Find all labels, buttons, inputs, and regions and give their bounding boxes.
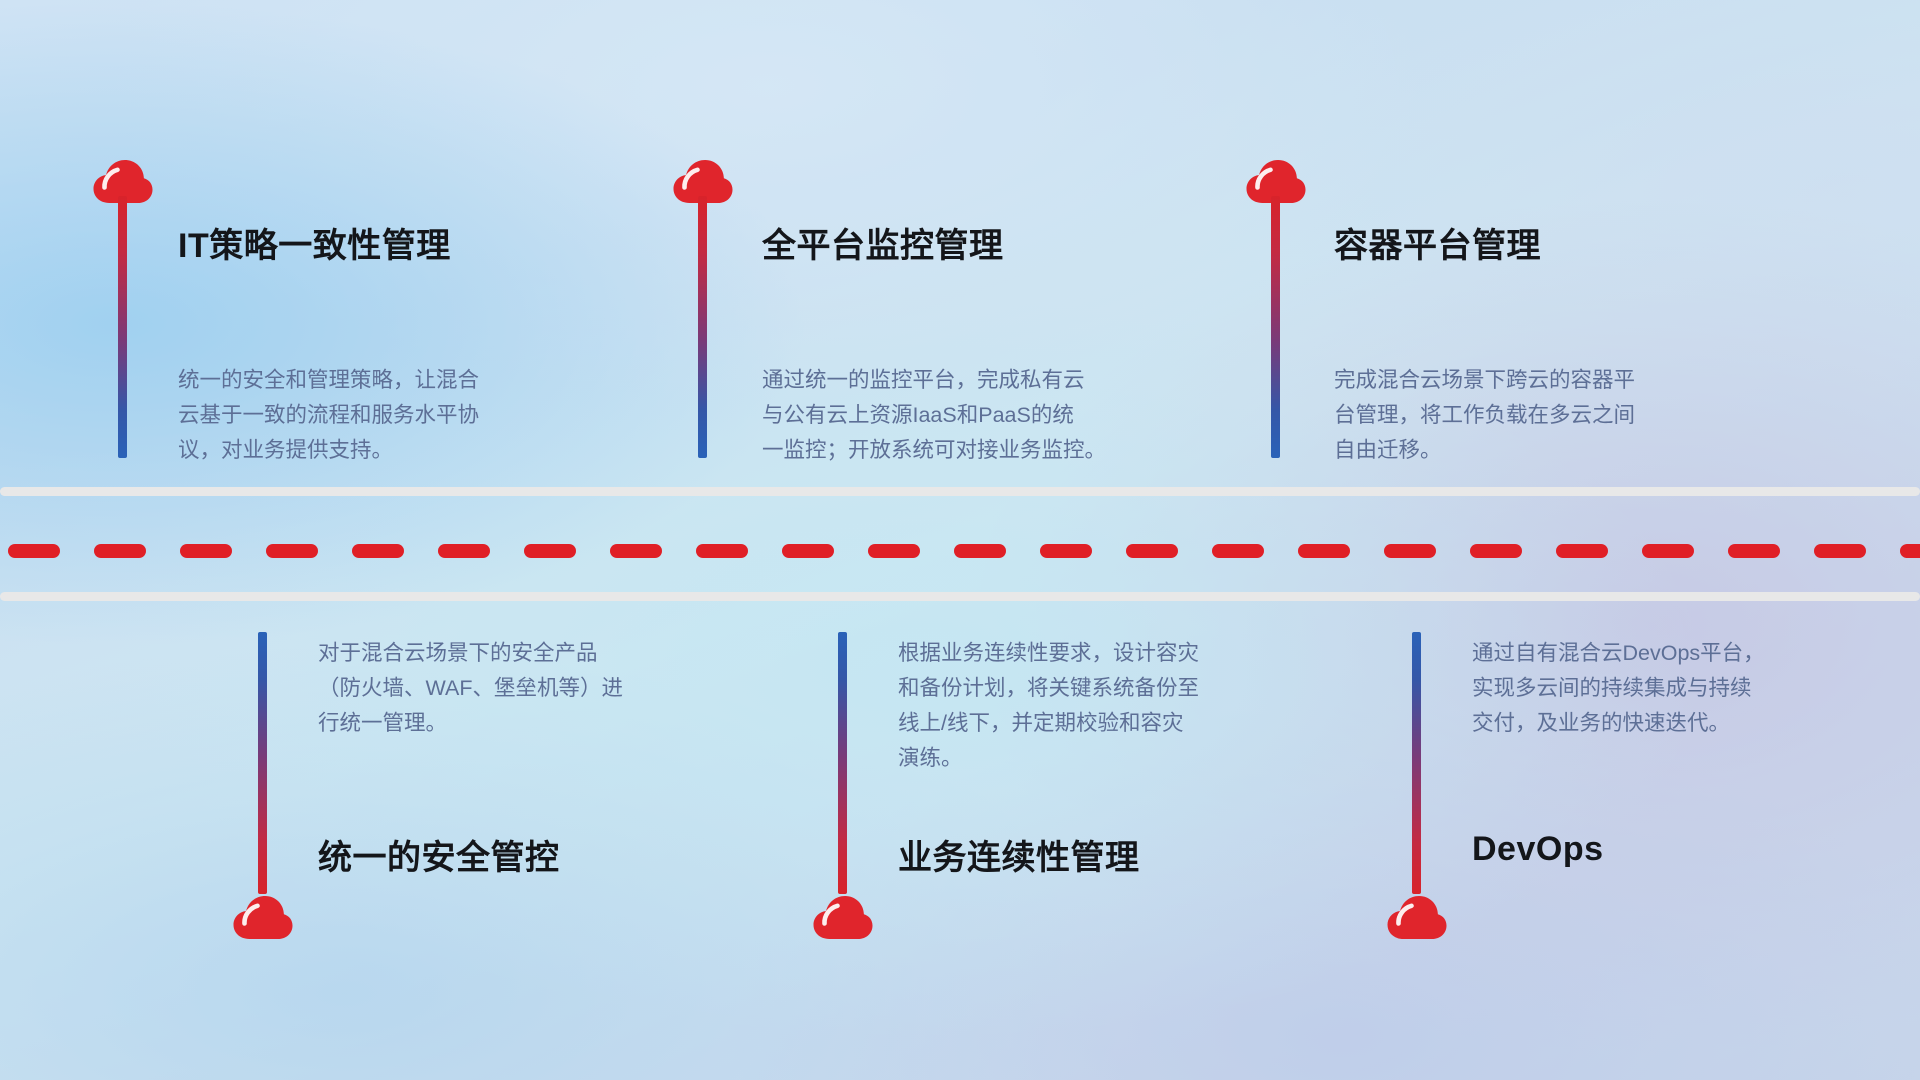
feature-title: 容器平台管理: [1334, 218, 1541, 267]
feature-title: IT策略一致性管理: [178, 218, 451, 267]
feature-title: 全平台监控管理: [762, 218, 1004, 267]
feature-body: 对于混合云场景下的安全产品 （防火墙、WAF、堡垒机等）进 行统一管理。: [318, 636, 748, 741]
divider-line-bottom: [0, 592, 1920, 601]
feature-title: DevOps: [1472, 830, 1604, 869]
feature-body: 完成混合云场景下跨云的容器平 台管理，将工作负载在多云之间 自由迁移。: [1334, 363, 1784, 468]
cloud-icon: [812, 893, 874, 941]
feature-body: 通过统一的监控平台，完成私有云 与公有云上资源IaaS和PaaS的统 一监控；开…: [762, 363, 1222, 468]
cloud-icon: [232, 893, 294, 941]
divider-line-top: [0, 487, 1920, 496]
feature-body: 统一的安全和管理策略，让混合 云基于一致的流程和服务水平协 议，对业务提供支持。: [178, 363, 608, 468]
feature-body: 根据业务连续性要求，设计容灾 和备份计划，将关键系统备份至 线上/线下，并定期校…: [898, 636, 1338, 776]
cloud-icon: [1386, 893, 1448, 941]
feature-title: 业务连续性管理: [898, 830, 1140, 879]
feature-body: 通过自有混合云DevOps平台， 实现多云间的持续集成与持续 交付，及业务的快速…: [1472, 636, 1912, 741]
infographic-canvas: IT策略一致性管理 统一的安全和管理策略，让混合 云基于一致的流程和服务水平协 …: [0, 0, 1920, 1080]
feature-title: 统一的安全管控: [318, 830, 560, 879]
